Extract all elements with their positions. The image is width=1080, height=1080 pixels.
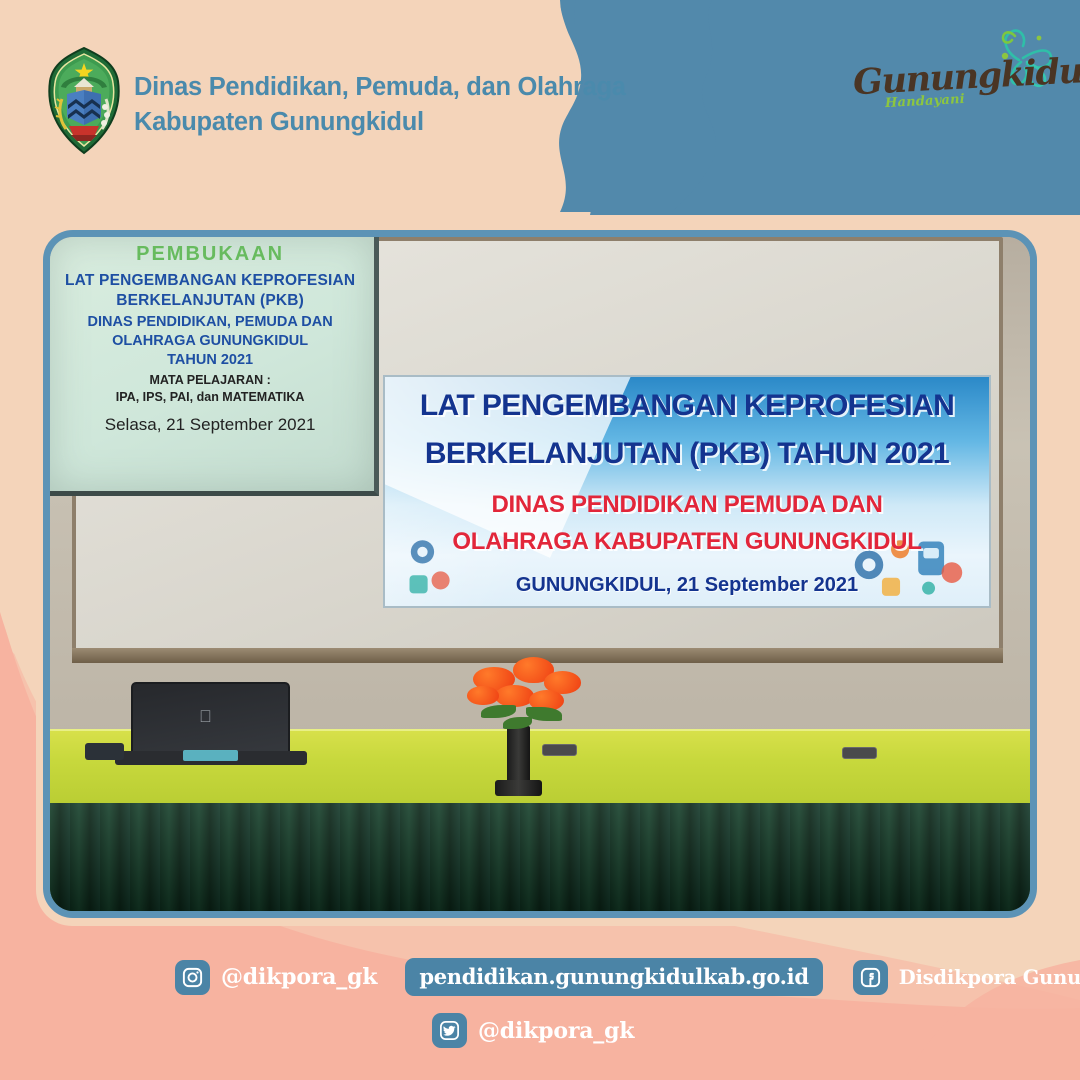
slide-subject-label: MATA PELAJARAN : — [50, 372, 370, 389]
projector-screen: PEMBUKAAN LAT PENGEMBANGAN KEPROFESIAN B… — [50, 237, 379, 496]
laptop-cable — [85, 743, 124, 761]
event-banner: LAT PENGEMBANGAN KEPROFESIAN BERKELANJUT… — [383, 375, 991, 608]
slide-line3: DINAS PENDIDIKAN, PEMUDA DAN — [50, 313, 370, 332]
footer-row-twitter: @dikpora_gk — [432, 1013, 634, 1048]
smartphone-right — [842, 747, 877, 759]
banner-title-line1: LAT PENGEMBANGAN KEPROFESIAN — [383, 389, 991, 423]
website-url[interactable]: pendidikan.gunungkidulkab.go.id — [405, 958, 822, 996]
event-photo: LAT PENGEMBANGAN KEPROFESIAN BERKELANJUT… — [50, 237, 1030, 911]
gunungkidul-regency-crest-icon — [45, 47, 123, 155]
slide-line4: OLAHRAGA GUNUNGKIDUL — [50, 332, 370, 351]
instagram-icon[interactable] — [175, 960, 210, 995]
banner-org-line1: DINAS PENDIDIKAN PEMUDA DAN — [385, 491, 989, 519]
banner-title-line2: BERKELANJUTAN (PKB) TAHUN 2021 — [383, 437, 991, 471]
slide-line2: BERKELANJUTAN (PKB) — [50, 291, 370, 311]
instagram-handle[interactable]: @dikpora_gk — [221, 964, 377, 990]
facebook-page[interactable]: Disdikpora Gunungkidul — [899, 966, 1080, 989]
slide-line5: TAHUN 2021 — [50, 351, 370, 370]
slide-subjects: IPA, IPS, PAI, dan MATEMATIKA — [50, 389, 370, 406]
org-title-line2: Kabupaten Gunungkidul — [134, 105, 626, 140]
twitter-handle[interactable]: @dikpora_gk — [478, 1018, 634, 1044]
banner-place-date: GUNUNGKIDUL, 21 September 2021 — [433, 574, 940, 597]
footer-row-primary: @dikpora_gk pendidikan.gunungkidulkab.go… — [175, 958, 1080, 996]
gunungkidul-handayani-logo: Gunungkidul Handayani — [849, 22, 1064, 117]
event-photo-frame: LAT PENGEMBANGAN KEPROFESIAN BERKELANJUT… — [43, 230, 1037, 918]
social-footer: @dikpora_gk pendidikan.gunungkidulkab.go… — [0, 940, 1080, 1080]
org-title-line1: Dinas Pendidikan, Pemuda, dan Olahraga — [134, 70, 626, 105]
slide-content: PEMBUKAAN LAT PENGEMBANGAN KEPROFESIAN B… — [50, 243, 370, 435]
twitter-icon[interactable] — [432, 1013, 467, 1048]
banner-org-line2: OLAHRAGA KABUPATEN GUNUNGKIDUL — [385, 528, 989, 556]
page-title: Dinas Pendidikan, Pemuda, dan Olahraga K… — [134, 70, 626, 140]
red-face-mask — [50, 237, 52, 239]
slide-heading: PEMBUKAAN — [50, 243, 370, 266]
smartphone-center — [542, 744, 577, 756]
table-skirt — [43, 803, 1037, 914]
page-header: Dinas Pendidikan, Pemuda, dan Olahraga K… — [0, 0, 1080, 210]
slide-date: Selasa, 21 September 2021 — [50, 415, 370, 435]
slide-line1: LAT PENGEMBANGAN KEPROFESIAN — [50, 271, 370, 291]
facebook-icon[interactable] — [853, 960, 888, 995]
